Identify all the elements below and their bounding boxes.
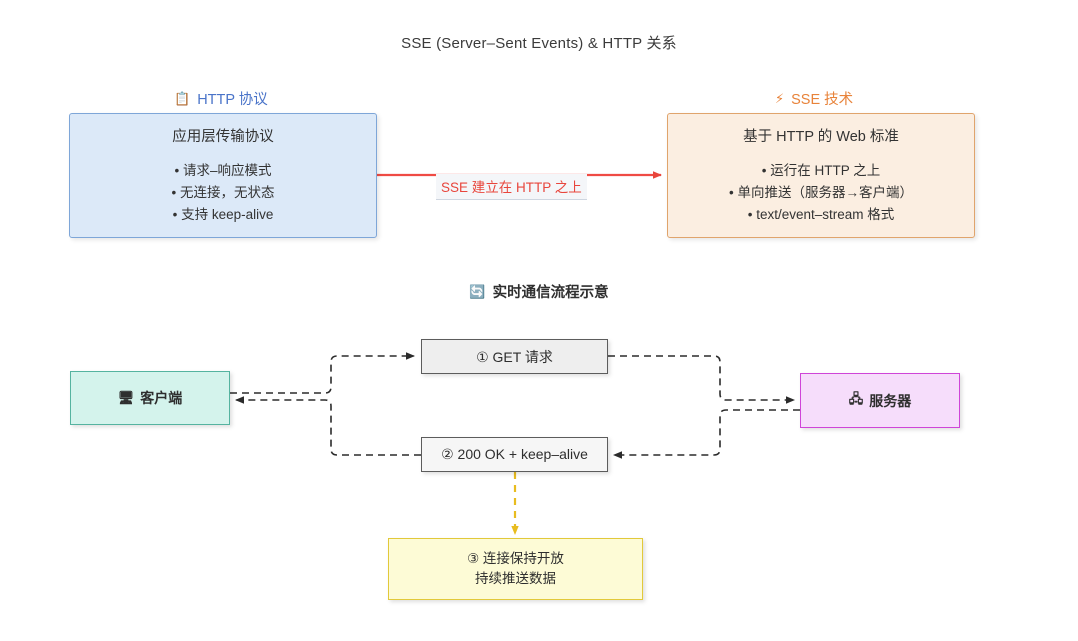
sse-box-title: 基于 HTTP 的 Web 标准 bbox=[743, 125, 899, 146]
flow-node-server-label: 服务器 bbox=[869, 391, 911, 411]
flow-node-server: 🖧 服务器 bbox=[800, 373, 960, 428]
flow-node-step2-200-ok: ② 200 OK + keep–alive bbox=[421, 437, 608, 472]
sse-bullet-2: • 单向推送（服务器→客户端） bbox=[729, 182, 913, 204]
http-bullet-1: • 请求–响应模式 bbox=[172, 160, 275, 182]
section-header-http: 📋 HTTP 协议 bbox=[174, 88, 268, 109]
refresh-sync-icon: 🔄 bbox=[469, 285, 485, 298]
lightning-bolt-icon: ⚡ bbox=[775, 92, 784, 105]
sse-box-bullets: • 运行在 HTTP 之上 • 单向推送（服务器→客户端） • text/eve… bbox=[729, 160, 913, 226]
section-header-flow-label: 实时通信流程示意 bbox=[493, 281, 609, 302]
relation-arrow-label: SSE 建立在 HTTP 之上 bbox=[436, 174, 587, 200]
page-title: SSE (Server–Sent Events) & HTTP 关系 bbox=[0, 32, 1078, 53]
flow-node-step2-label: ② 200 OK + keep–alive bbox=[441, 446, 588, 463]
flow-node-step3-line2: 持续推送数据 bbox=[475, 569, 556, 589]
flow-node-step3-keep-open: ③ 连接保持开放 持续推送数据 bbox=[388, 538, 643, 600]
flow-node-client-label: 客户端 bbox=[140, 388, 182, 408]
sse-bullet-1: • 运行在 HTTP 之上 bbox=[729, 160, 913, 182]
http-bullet-3: • 支持 keep-alive bbox=[172, 204, 275, 226]
sse-bullet-3: • text/event–stream 格式 bbox=[729, 204, 913, 226]
edge-get-to-server bbox=[608, 356, 794, 400]
edge-client-to-get bbox=[230, 356, 414, 393]
section-header-flow: 🔄 实时通信流程示意 bbox=[0, 281, 1078, 302]
section-header-http-label: HTTP 协议 bbox=[197, 88, 268, 109]
edge-ok-to-client bbox=[236, 400, 421, 455]
section-header-sse: ⚡ SSE 技术 bbox=[775, 88, 853, 109]
flow-node-step3-line1: ③ 连接保持开放 bbox=[467, 549, 564, 569]
flow-node-client: 🖥 客户端 bbox=[70, 371, 230, 425]
edge-server-to-ok bbox=[614, 410, 800, 455]
server-icon: 🖧 bbox=[849, 390, 864, 412]
flow-node-step1-get-request: ① GET 请求 bbox=[421, 339, 608, 374]
http-box-bullets: • 请求–响应模式 • 无连接，无状态 • 支持 keep-alive bbox=[172, 160, 275, 226]
section-header-sse-label: SSE 技术 bbox=[791, 88, 853, 109]
http-box-title: 应用层传输协议 bbox=[172, 125, 274, 146]
monitor-icon: 🖥 bbox=[118, 390, 135, 406]
clipboard-icon: 📋 bbox=[174, 92, 190, 105]
flow-node-step1-label: ① GET 请求 bbox=[476, 347, 553, 367]
http-concept-box: 应用层传输协议 • 请求–响应模式 • 无连接，无状态 • 支持 keep-al… bbox=[69, 113, 377, 238]
diagram-canvas: SSE (Server–Sent Events) & HTTP 关系 📋 HTT… bbox=[0, 0, 1078, 641]
sse-concept-box: 基于 HTTP 的 Web 标准 • 运行在 HTTP 之上 • 单向推送（服务… bbox=[667, 113, 975, 238]
http-bullet-2: • 无连接，无状态 bbox=[172, 182, 275, 204]
